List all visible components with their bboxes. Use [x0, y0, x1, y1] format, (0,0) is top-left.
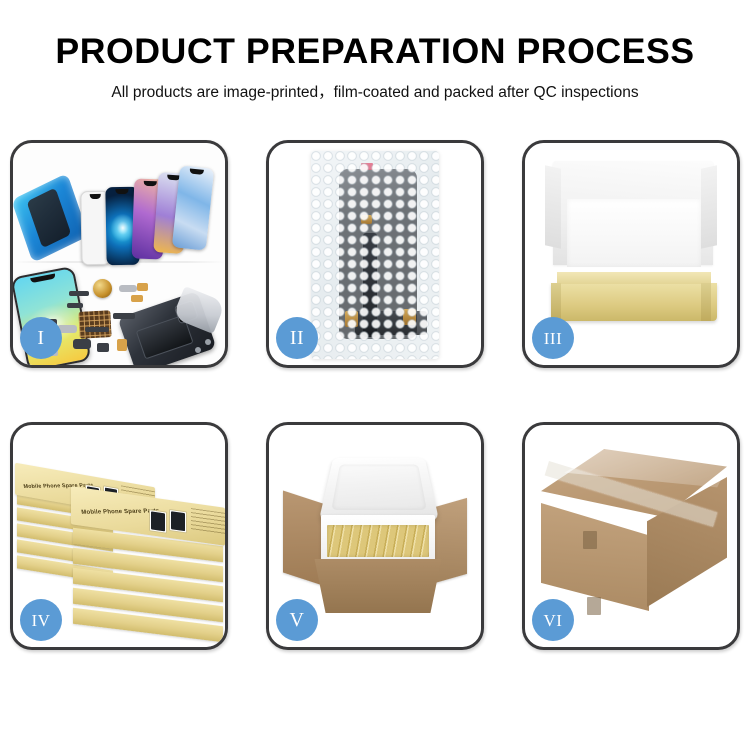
carton-seam-lower [587, 597, 601, 615]
outer-carton-graphic [309, 559, 447, 613]
flex-part-5 [67, 303, 83, 308]
process-step-panel-5[interactable]: V [266, 422, 484, 650]
flex-part-2 [119, 285, 137, 292]
box-side-right [701, 283, 711, 321]
screw-part-3 [205, 339, 211, 345]
page-subtitle: All products are image-printed，film-coat… [0, 80, 750, 102]
process-step-panel-6[interactable]: VI [522, 422, 740, 650]
process-step-panel-2[interactable]: II [266, 140, 484, 368]
step-badge-4: IV [20, 599, 62, 641]
box-label-text-2: Mobile Phone Spare Parts [81, 508, 160, 515]
flex-part-1 [69, 291, 89, 296]
bubble-wrap-bag-graphic [311, 151, 439, 359]
step-badge-2: II [276, 317, 318, 359]
step-badge-5: V [276, 599, 318, 641]
bubble-texture [311, 151, 439, 359]
process-step-grid: I II [10, 140, 740, 650]
screw-part-2 [195, 347, 201, 353]
flex-part-6 [113, 313, 135, 319]
page-header: PRODUCT PREPARATION PROCESS All products… [0, 0, 750, 102]
box-lid-left-flap [545, 165, 561, 248]
carton-seam-upper [583, 531, 597, 549]
process-step-panel-1[interactable]: I [10, 140, 228, 368]
speaker-module-graphic [93, 279, 112, 298]
process-step-panel-3[interactable]: III [522, 140, 740, 368]
box-side-left [551, 283, 561, 321]
foam-sheet-graphic [567, 199, 701, 267]
chip-grid-graphic [78, 310, 111, 339]
flex-part-4 [131, 295, 143, 302]
flex-part-13 [85, 327, 109, 332]
flex-part-12 [117, 339, 127, 351]
foam-cooler-lid-graphic [319, 458, 439, 520]
step-badge-6: VI [532, 599, 574, 641]
box-lid-right-flap [701, 165, 717, 248]
step-badge-1: I [20, 317, 62, 359]
flex-part-3 [137, 283, 148, 291]
yellow-boxes-inside-graphic [327, 525, 429, 557]
page-title: PRODUCT PREPARATION PROCESS [0, 34, 750, 71]
process-step-panel-4[interactable]: Mobile Phone Spare Parts Mobile Phone Sp… [10, 422, 228, 650]
flex-part-10 [97, 343, 109, 352]
flex-part-9 [73, 339, 91, 349]
step-badge-3: III [532, 317, 574, 359]
yellow-box-body-graphic [551, 283, 717, 321]
